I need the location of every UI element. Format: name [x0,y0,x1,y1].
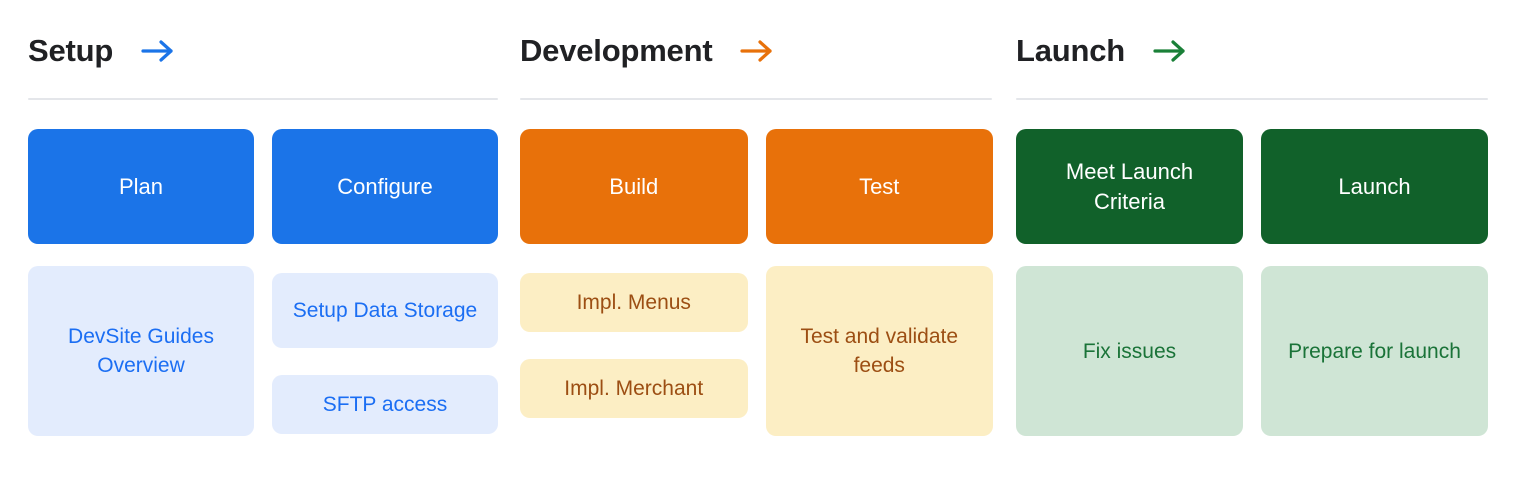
phase-divider-setup [28,98,498,100]
phase-title-launch: Launch [1016,34,1125,68]
sub-card-prepare-for-launch[interactable]: Prepare for launch [1261,266,1488,436]
primary-card-launch[interactable]: Launch [1261,129,1488,244]
primary-card-build[interactable]: Build [520,129,748,244]
arrow-right-icon [141,38,175,64]
phase-cards-launch: Meet Launch Criteria Fix issues Launch P… [1016,129,1518,436]
card-column-configure: Configure Setup Data Storage SFTP access [272,129,498,436]
phase-column-setup: Setup Plan DevSite Guides Overview Con [0,0,498,436]
phase-header-setup: Setup [28,0,498,76]
sub-card-impl-menus[interactable]: Impl. Menus [520,273,748,332]
sub-card-stack-launch: Prepare for launch [1261,266,1488,436]
phase-title-development: Development [520,34,712,68]
primary-card-test[interactable]: Test [766,129,994,244]
phase-header-development: Development [520,0,993,76]
phase-cards-development: Build Impl. Menus Impl. Merchant Test Te… [520,129,993,436]
primary-card-plan[interactable]: Plan [28,129,254,244]
card-column-build: Build Impl. Menus Impl. Merchant [520,129,748,436]
arrow-right-icon [1153,38,1187,64]
card-column-meet-launch-criteria: Meet Launch Criteria Fix issues [1016,129,1243,436]
sub-card-stack-configure: Setup Data Storage SFTP access [272,273,498,434]
sub-card-stack-test: Test and validate feeds [766,266,994,436]
card-column-test: Test Test and validate feeds [766,129,994,436]
phase-column-development: Development Build Impl. Menus Impl. Merc… [498,0,993,436]
card-column-plan: Plan DevSite Guides Overview [28,129,254,436]
phase-cards-setup: Plan DevSite Guides Overview Configure S… [28,129,498,436]
sub-card-sftp-access[interactable]: SFTP access [272,375,498,434]
project-phases-diagram: Setup Plan DevSite Guides Overview Con [0,0,1518,484]
phase-divider-launch [1016,98,1488,100]
phase-divider-development [520,98,992,100]
card-column-launch: Launch Prepare for launch [1261,129,1488,436]
sub-card-setup-data-storage[interactable]: Setup Data Storage [272,273,498,348]
primary-card-meet-launch-criteria[interactable]: Meet Launch Criteria [1016,129,1243,244]
sub-card-test-and-validate-feeds[interactable]: Test and validate feeds [766,266,994,436]
sub-card-stack-build: Impl. Menus Impl. Merchant [520,273,748,418]
sub-card-stack-plan: DevSite Guides Overview [28,266,254,436]
primary-card-configure[interactable]: Configure [272,129,498,244]
phase-header-launch: Launch [1016,0,1518,76]
sub-card-stack-meet-launch-criteria: Fix issues [1016,266,1243,436]
phase-column-launch: Launch Meet Launch Criteria Fix issues [993,0,1518,436]
sub-card-fix-issues[interactable]: Fix issues [1016,266,1243,436]
sub-card-devsite-guides-overview[interactable]: DevSite Guides Overview [28,266,254,436]
phase-title-setup: Setup [28,34,113,68]
sub-card-impl-merchant[interactable]: Impl. Merchant [520,359,748,418]
arrow-right-icon [740,38,774,64]
